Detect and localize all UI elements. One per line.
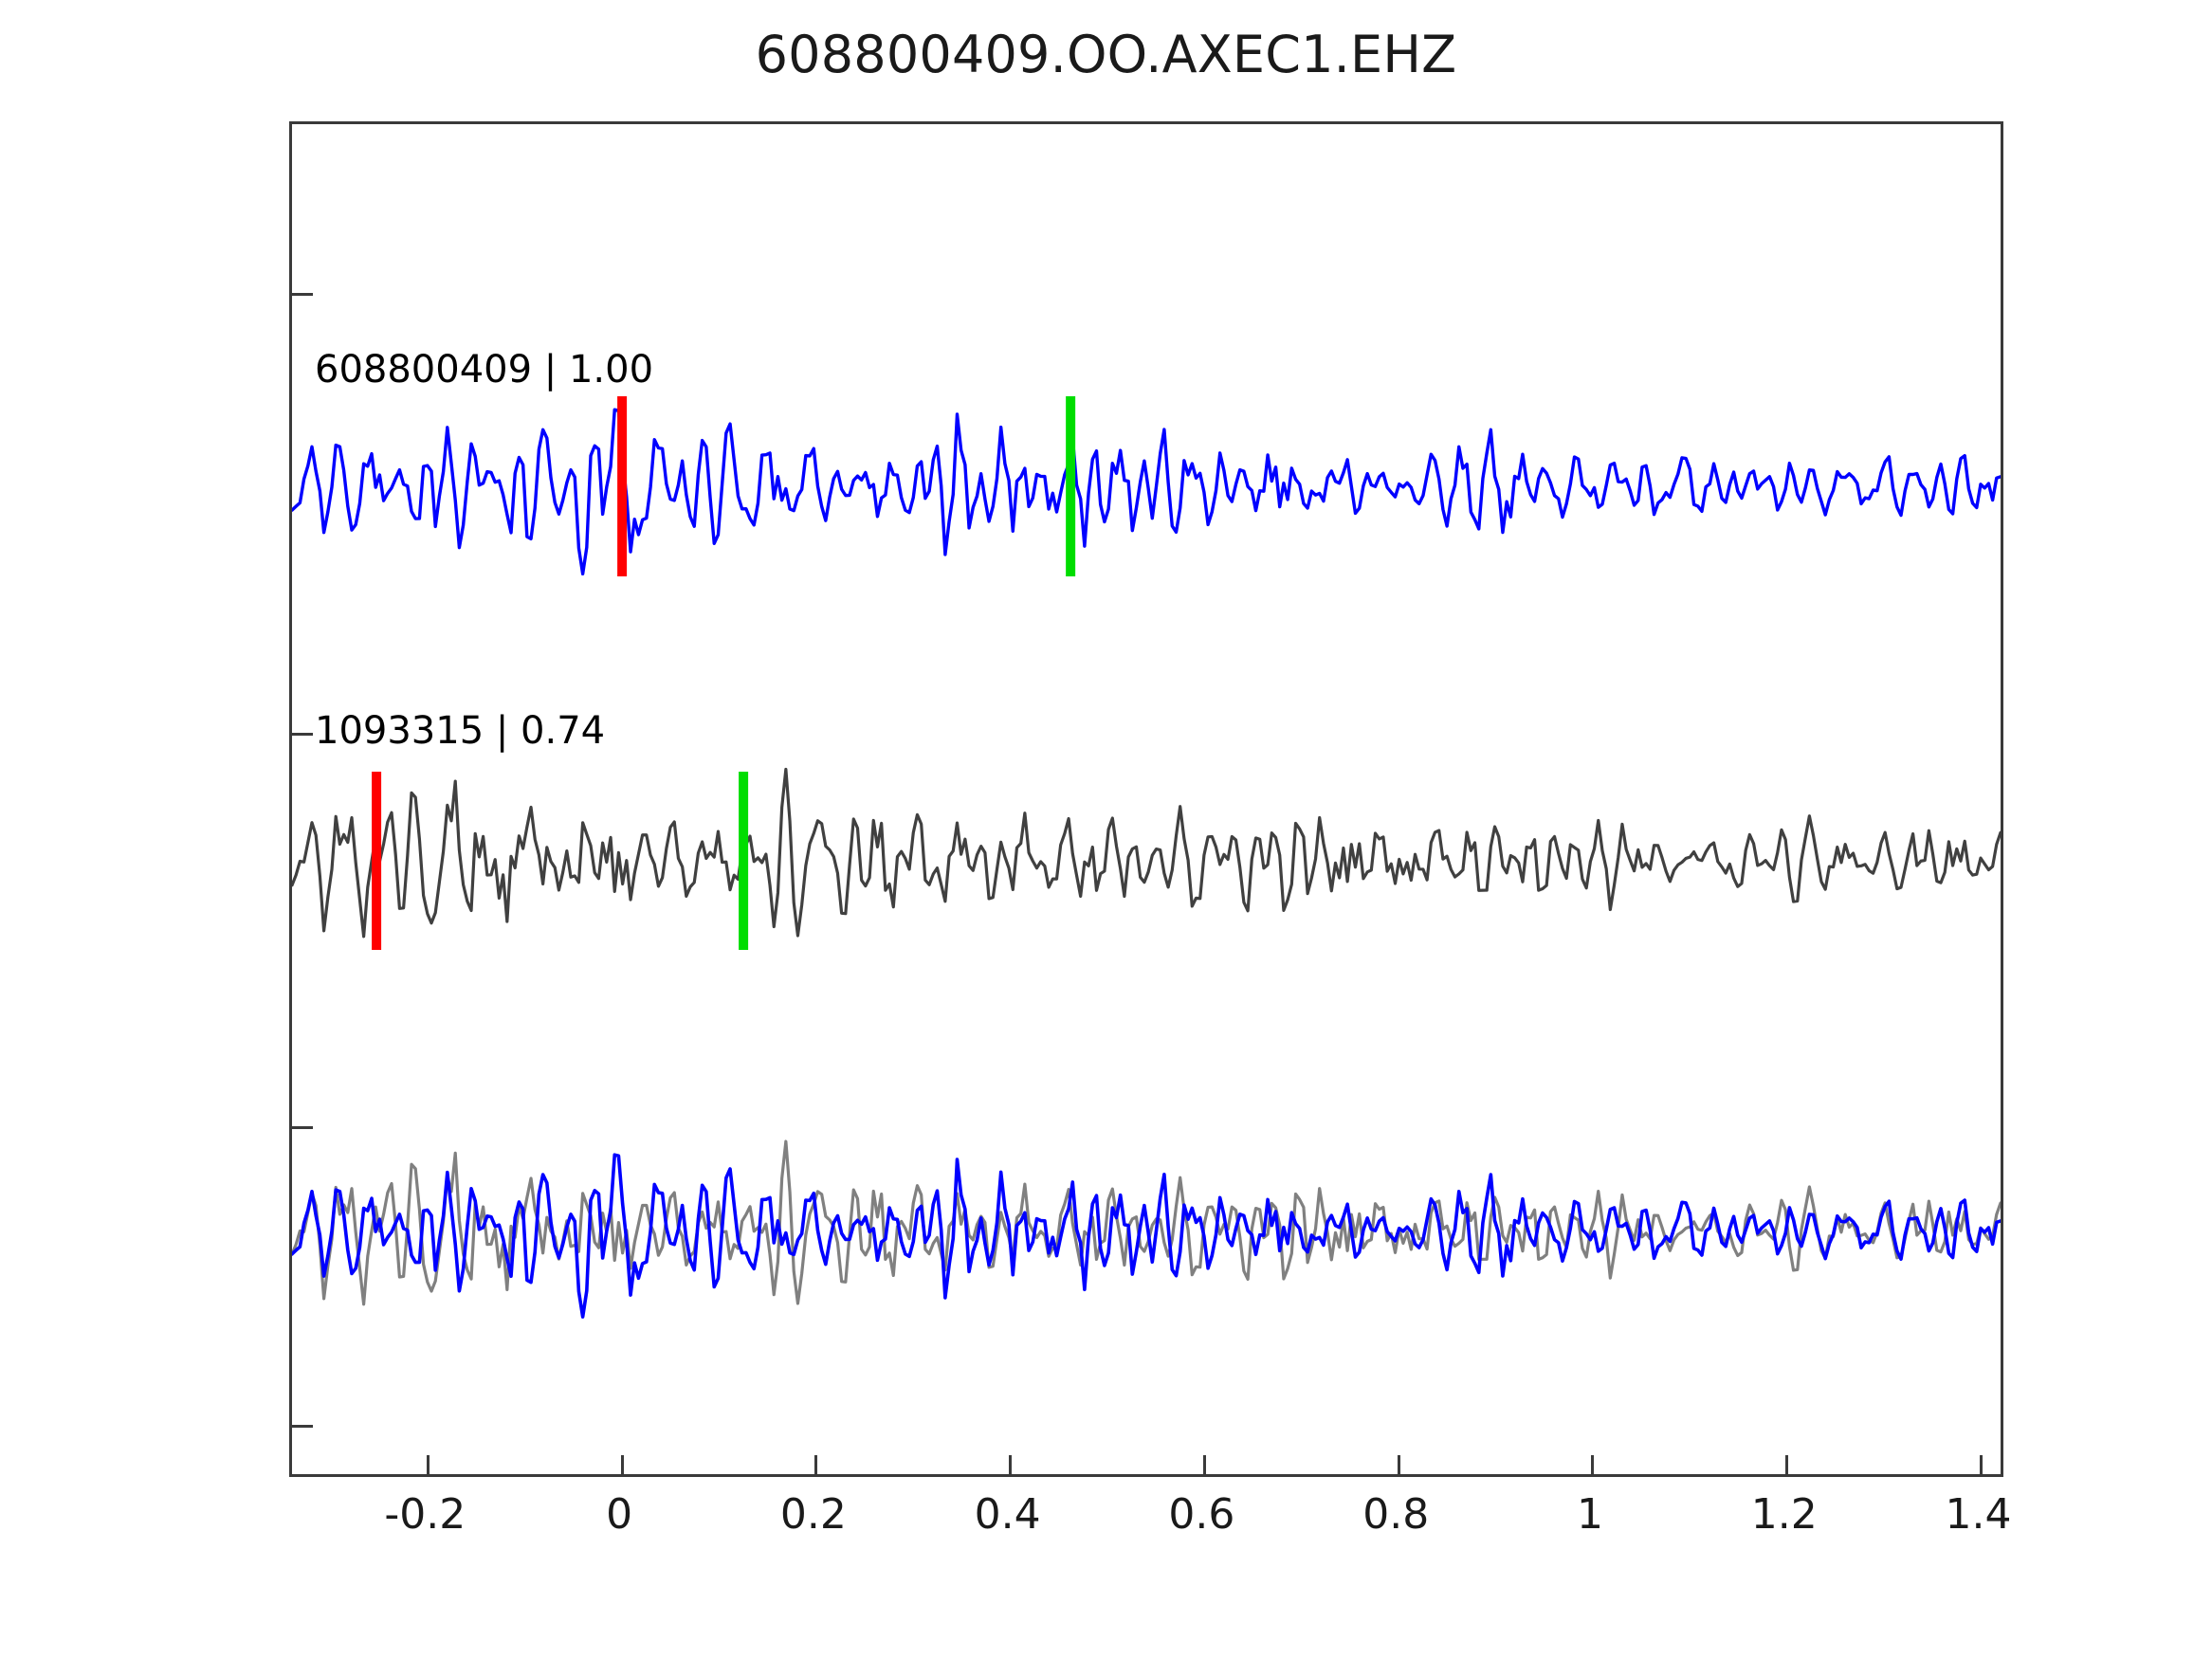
- s-pick-marker-1093315: [739, 772, 748, 950]
- x-axis-tick-label-0: -0.2: [384, 1490, 466, 1539]
- x-axis-tick-mark-5: [1398, 1455, 1400, 1474]
- x-axis-tick-label-7: 1.2: [1751, 1490, 1818, 1539]
- trace-label-1093315: 1093315 | 0.74: [315, 709, 605, 753]
- x-axis-tick-mark-8: [1980, 1455, 1983, 1474]
- waveform-trace-608800409: [292, 410, 2001, 574]
- p-pick-marker-1093315: [372, 772, 381, 950]
- p-pick-marker-608800409: [617, 396, 627, 576]
- y-axis-tick-1: [292, 733, 313, 736]
- waveform-trace-1093315: [292, 769, 2001, 936]
- x-axis-tick-mark-3: [1009, 1455, 1012, 1474]
- x-axis-tick-label-6: 1: [1577, 1490, 1603, 1539]
- s-pick-marker-608800409: [1066, 396, 1075, 576]
- x-axis-tick-label-3: 0.4: [975, 1490, 1041, 1539]
- figure-title: 608800409.OO.AXEC1.EHZ: [0, 25, 2212, 84]
- x-axis-tick-label-8: 1.4: [1946, 1490, 2012, 1539]
- x-axis-tick-label-4: 0.6: [1168, 1490, 1234, 1539]
- y-axis-tick-2: [292, 1126, 313, 1129]
- x-axis-tick-label-2: 0.2: [780, 1490, 847, 1539]
- trace-label-608800409: 608800409 | 1.00: [315, 348, 653, 392]
- x-axis-tick-mark-6: [1591, 1455, 1594, 1474]
- y-axis-tick-0: [292, 293, 313, 296]
- figure-root: 608800409.OO.AXEC1.EHZ 608800409 | 1.00 …: [0, 0, 2212, 1659]
- y-axis-tick-3: [292, 1425, 313, 1428]
- x-axis-tick-mark-2: [814, 1455, 817, 1474]
- x-axis-tick-mark-4: [1203, 1455, 1206, 1474]
- x-axis-tick-mark-1: [621, 1455, 624, 1474]
- plot-area: 608800409 | 1.00 1093315 | 0.74: [289, 121, 2003, 1477]
- waveform-overlay-608800409: [292, 1155, 2001, 1317]
- x-axis-tick-label-1: 0: [606, 1490, 632, 1539]
- x-axis-tick-mark-7: [1785, 1455, 1788, 1474]
- waveform-canvas: [292, 124, 2001, 1474]
- x-axis-tick-label-5: 0.8: [1362, 1490, 1429, 1539]
- x-axis-tick-mark-0: [427, 1455, 430, 1474]
- plot-canvas: [292, 124, 2001, 1474]
